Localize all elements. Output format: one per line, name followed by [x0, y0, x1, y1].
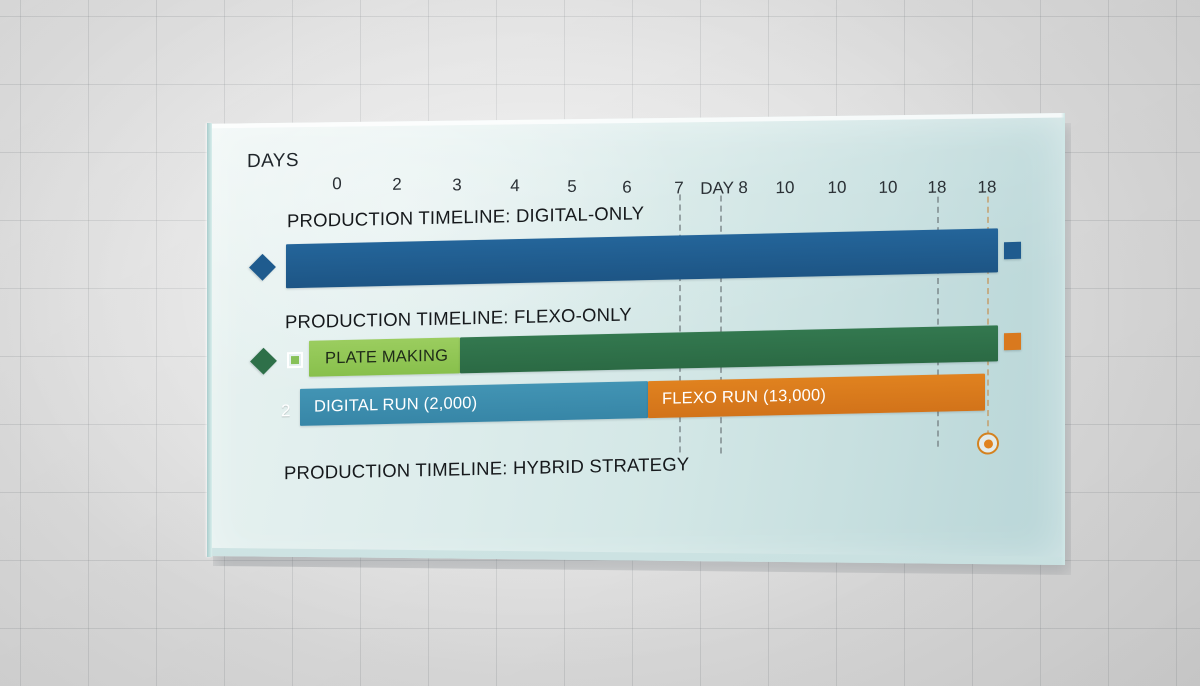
end-marker-square-digital[interactable] — [1004, 242, 1021, 259]
tick-label-10-b: 10 — [828, 178, 847, 198]
axis-title-days: DAYS — [247, 150, 299, 173]
bar-digital-only-run[interactable] — [286, 228, 998, 288]
tick-label-10-c: 10 — [879, 178, 898, 198]
end-marker-target-hybrid[interactable] — [977, 432, 999, 454]
bar-label-flexo-run: FLEXO RUN (13,000) — [662, 386, 826, 409]
gantt-chart: DAYS 0 2 3 4 5 6 7 DAY 8 10 10 10 18 18 — [207, 113, 1065, 565]
bar-flexo-plate-making[interactable]: PLATE MAKING — [309, 337, 460, 376]
milestone-diamond-flexo[interactable] — [250, 348, 277, 375]
tick-label-day-8: DAY 8 — [700, 178, 748, 199]
glass-board-panel: DAYS 0 2 3 4 5 6 7 DAY 8 10 10 10 18 18 — [207, 113, 1065, 565]
hybrid-row-number: 2 — [281, 401, 290, 421]
bar-hybrid-flexo-run[interactable]: FLEXO RUN (13,000) — [648, 374, 985, 419]
tick-label-18-a: 18 — [928, 177, 947, 197]
tick-label-10-a: 10 — [776, 178, 795, 198]
bar-flexo-press-run[interactable] — [460, 325, 998, 373]
bar-hybrid-digital-run[interactable]: DIGITAL RUN (2,000) — [300, 381, 648, 426]
section-title-flexo-only: PRODUCTION TIMELINE: FLEXO-ONLY — [285, 304, 632, 334]
plate-making-swatch-icon — [287, 352, 303, 368]
milestone-diamond-digital[interactable] — [249, 254, 276, 281]
tick-label-18-b: 18 — [978, 177, 997, 197]
section-title-hybrid-strategy: PRODUCTION TIMELINE: HYBRID STRATEGY — [284, 453, 689, 484]
tick-label-6: 6 — [622, 178, 631, 198]
end-marker-square-flexo[interactable] — [1004, 333, 1021, 350]
section-title-digital-only: PRODUCTION TIMELINE: DIGITAL-ONLY — [287, 202, 644, 232]
tick-label-0: 0 — [332, 174, 341, 194]
chart-tilt-container: DAYS 0 2 3 4 5 6 7 DAY 8 10 10 10 18 18 — [207, 94, 1065, 565]
presentation-scene: DAYS 0 2 3 4 5 6 7 DAY 8 10 10 10 18 18 — [0, 0, 1200, 686]
tick-label-5: 5 — [567, 177, 576, 197]
bar-label-digital-run: DIGITAL RUN (2,000) — [314, 394, 477, 417]
tick-label-2: 2 — [392, 175, 401, 195]
bar-label-plate-making: PLATE MAKING — [325, 347, 448, 369]
tick-label-3: 3 — [452, 175, 461, 195]
tick-label-4: 4 — [510, 176, 519, 196]
